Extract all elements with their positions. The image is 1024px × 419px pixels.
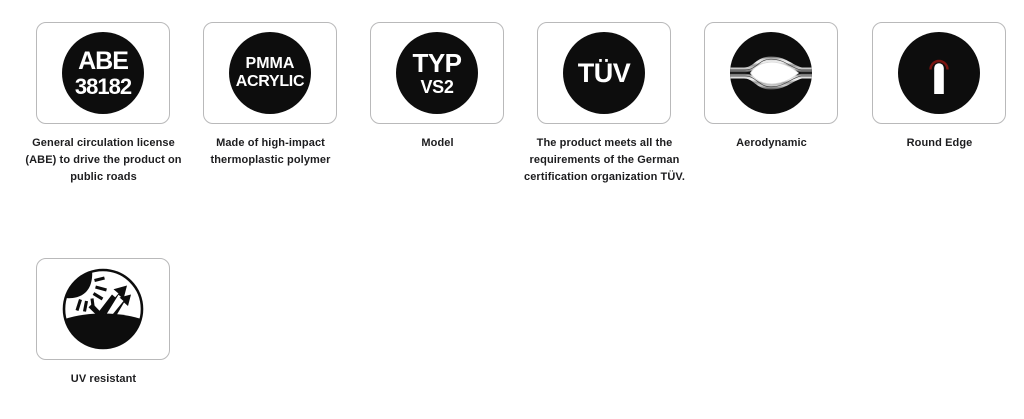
badge-item-pmma: PMMA ACRYLIC Made of high-impact thermop… [203,22,370,169]
badge-card-round-edge [872,22,1006,124]
badge-item-uv-resistant: UV resistant [36,258,203,388]
typ-icon-primary-text: TYP [412,50,461,76]
abe-icon-primary-text: ABE [78,49,128,74]
badge-item-typ: TYP VS2 Model [370,22,537,152]
badge-card-aerodynamic [704,22,838,124]
tuv-circle-icon: TÜV [563,32,645,114]
uv-resistant-sun-icon [62,268,144,350]
pmma-acrylic-circle-icon: PMMA ACRYLIC [229,32,311,114]
badge-caption-uv-resistant: UV resistant [20,371,187,388]
badge-card-tuv: TÜV [537,22,671,124]
badge-card-abe: ABE 38182 [36,22,170,124]
badge-caption-abe: General circulation license (ABE) to dri… [20,135,187,186]
typ-icon-secondary-text: VS2 [420,78,453,96]
badge-item-round-edge: Round Edge [872,22,1024,152]
badge-item-abe: ABE 38182 General circulation license (A… [36,22,203,186]
pmma-icon-secondary-text: ACRYLIC [236,74,304,90]
badge-caption-tuv: The product meets all the requirements o… [521,135,688,186]
abe-icon-secondary-text: 38182 [75,76,131,98]
badge-caption-typ: Model [354,135,521,152]
pmma-icon-primary-text: PMMA [246,56,295,72]
badge-caption-aerodynamic: Aerodynamic [688,135,855,152]
badge-card-pmma: PMMA ACRYLIC [203,22,337,124]
abe-circle-icon: ABE 38182 [62,32,144,114]
typ-vs2-circle-icon: TYP VS2 [396,32,478,114]
badge-item-tuv: TÜV The product meets all the requiremen… [537,22,704,186]
aerodynamic-airflow-icon [730,32,812,114]
tuv-icon-primary-text: TÜV [578,60,631,87]
badge-card-uv-resistant [36,258,170,360]
badge-caption-pmma: Made of high-impact thermoplastic polyme… [187,135,354,169]
badge-card-typ: TYP VS2 [370,22,504,124]
badge-grid: ABE 38182 General circulation license (A… [0,0,1024,419]
badge-caption-round-edge: Round Edge [856,135,1023,152]
badge-item-aerodynamic: Aerodynamic [704,22,871,152]
round-edge-icon [898,32,980,114]
